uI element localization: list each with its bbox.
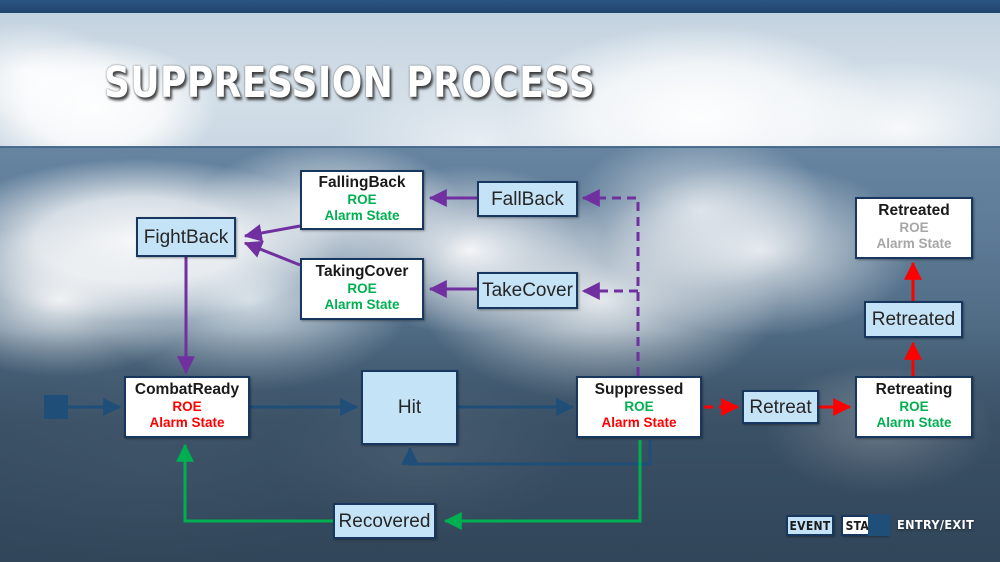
state-title: Retreating — [876, 382, 953, 399]
legend-entry-exit-label: ENTRY/EXIT — [897, 517, 974, 532]
state-roe: ROE — [347, 192, 376, 208]
edge-suppressed-to-fallback — [583, 198, 638, 376]
state-roe: ROE — [899, 399, 928, 415]
state-roe: ROE — [347, 281, 376, 297]
event-node-fightback[interactable]: FightBack — [136, 217, 236, 257]
event-title: FallBack — [491, 190, 564, 209]
state-alarm: Alarm State — [149, 415, 224, 431]
event-title: Recovered — [339, 512, 431, 531]
state-node-takingcover[interactable]: TakingCover ROE Alarm State — [300, 258, 424, 320]
state-title: Retreated — [878, 203, 950, 220]
event-node-takecover[interactable]: TakeCover — [477, 272, 578, 309]
state-roe: ROE — [624, 399, 653, 415]
state-roe: ROE — [172, 399, 201, 415]
legend-event-swatch: EVENT — [786, 515, 834, 536]
legend-entry-exit-swatch — [868, 514, 890, 536]
state-alarm: Alarm State — [324, 208, 399, 224]
event-node-fallback[interactable]: FallBack — [477, 181, 578, 217]
event-title: Retreat — [749, 398, 811, 417]
event-title: Retreated — [872, 310, 955, 329]
state-title: CombatReady — [135, 382, 239, 399]
event-node-retreat[interactable]: Retreat — [742, 390, 819, 424]
edge-suppressed-to-recovered — [445, 440, 640, 521]
state-node-retreating[interactable]: Retreating ROE Alarm State — [855, 376, 973, 438]
state-roe: ROE — [899, 220, 928, 236]
entry-exit-marker[interactable] — [44, 395, 68, 419]
edge-fallingback-to-fightback — [245, 226, 300, 236]
event-title: Hit — [398, 398, 421, 417]
edge-takingcover-to-fightback — [245, 243, 300, 265]
event-title: FightBack — [144, 228, 228, 247]
state-alarm: Alarm State — [876, 415, 951, 431]
slide-canvas: SUPPRESSION PROCESS — [0, 0, 1000, 562]
state-title: FallingBack — [319, 175, 406, 192]
event-node-recovered[interactable]: Recovered — [333, 503, 436, 539]
state-title: TakingCover — [316, 264, 409, 281]
event-title: TakeCover — [482, 281, 573, 300]
state-node-retreated[interactable]: Retreated ROE Alarm State — [855, 197, 973, 259]
state-node-fallingback[interactable]: FallingBack ROE Alarm State — [300, 170, 424, 230]
state-title: Suppressed — [595, 382, 684, 399]
state-node-suppressed[interactable]: Suppressed ROE Alarm State — [576, 376, 702, 438]
legend-event-label: EVENT — [789, 519, 830, 533]
edge-recovered-to-combatready — [185, 445, 333, 521]
event-node-retreated[interactable]: Retreated — [864, 301, 963, 338]
state-node-combatready[interactable]: CombatReady ROE Alarm State — [124, 376, 250, 438]
state-alarm: Alarm State — [601, 415, 676, 431]
event-node-hit[interactable]: Hit — [361, 370, 458, 445]
state-alarm: Alarm State — [324, 297, 399, 313]
state-alarm: Alarm State — [876, 236, 951, 252]
